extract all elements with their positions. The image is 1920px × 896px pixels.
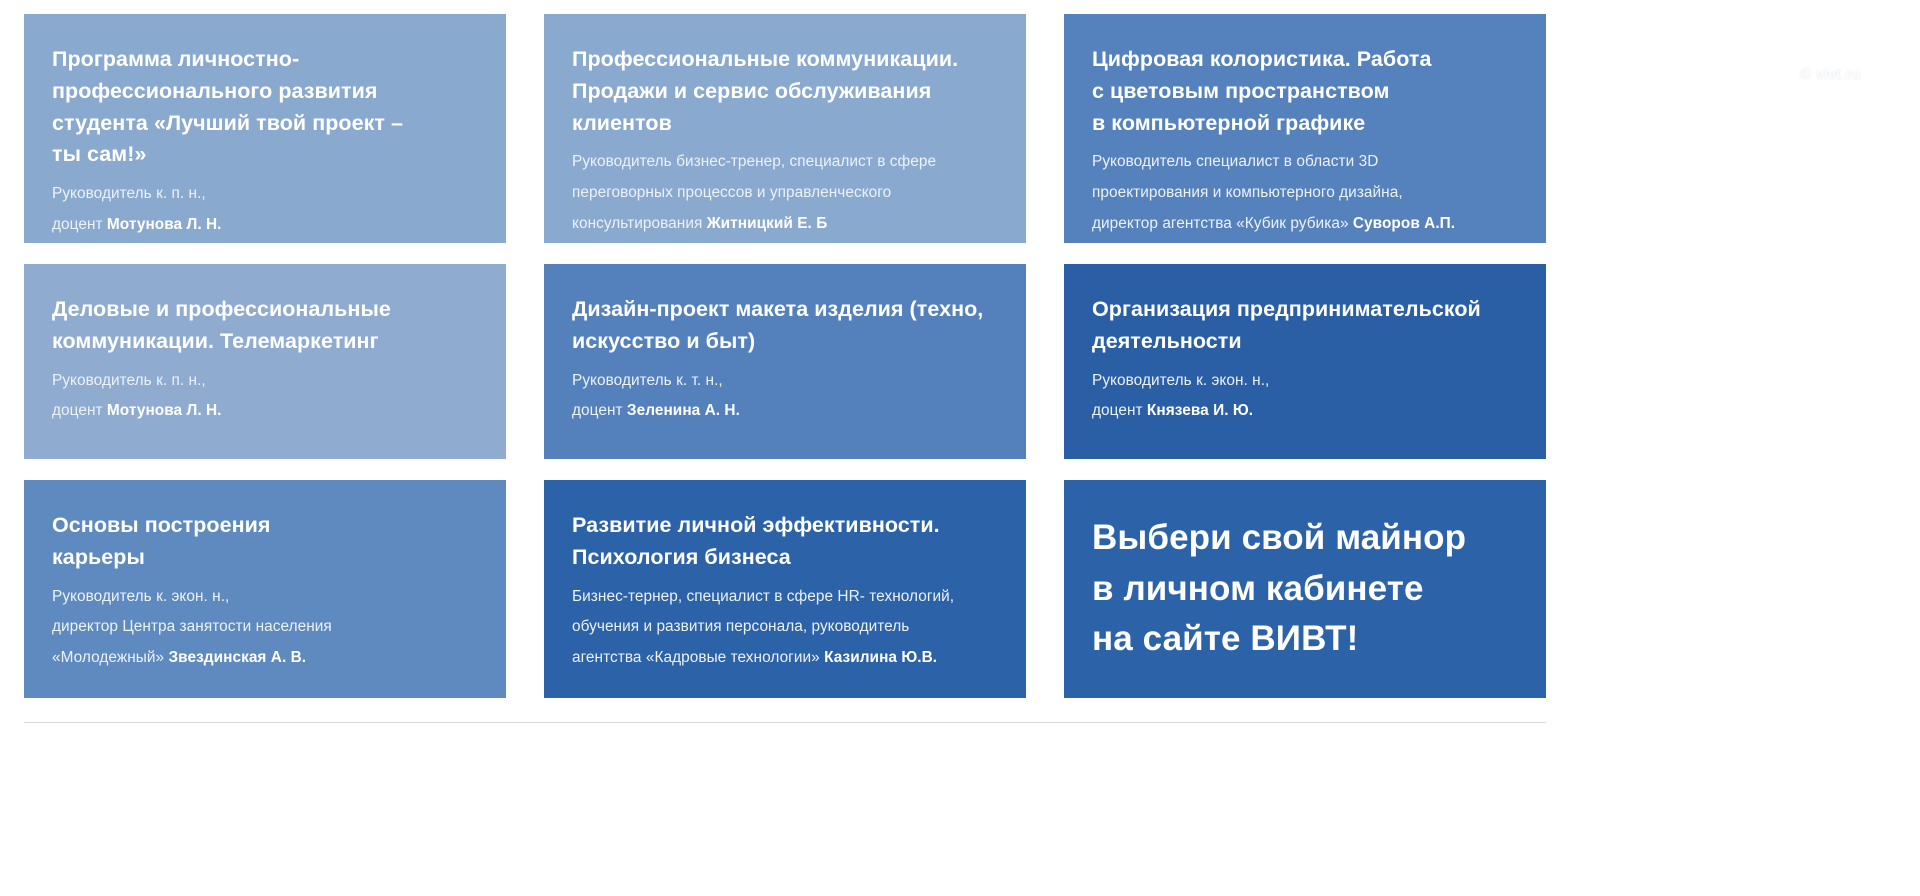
supervisor-line: доцент Мотунова Л. Н. [52, 396, 480, 427]
supervisor-line: доцент Князева И. Ю. [1092, 396, 1520, 427]
program-supervisor: Руководитель специалист в области 3Dпрое… [1092, 147, 1520, 239]
program-card[interactable]: Развитие личной эффективности.Психология… [544, 480, 1026, 698]
supervisor-line: Руководитель к. п. н., [52, 366, 480, 397]
program-card[interactable]: Организация предпринимательскойдеятельно… [1064, 264, 1546, 459]
supervisor-name: Суворов А.П. [1353, 215, 1455, 232]
supervisor-line: Руководитель к. п. н., [52, 179, 480, 210]
supervisor-line: Руководитель к. экон. н., [52, 582, 480, 613]
supervisor-line: обучения и развития персонала, руководит… [572, 612, 1000, 643]
program-supervisor: Руководитель к. п. н.,доцент Мотунова Л.… [52, 179, 480, 241]
supervisor-name: Зеленина А. Н. [627, 402, 740, 419]
program-title: Профессиональные коммуникации.Продажи и … [572, 44, 1000, 139]
supervisor-line: проектирования и компьютерного дизайна, [1092, 178, 1520, 209]
program-supervisor: Руководитель к. п. н.,доцент Мотунова Л.… [52, 366, 480, 428]
program-title: Цифровая колористика. Работас цветовым п… [1092, 44, 1520, 139]
program-card[interactable]: Деловые и профессиональныекоммуникации. … [24, 264, 506, 459]
program-card[interactable]: Профессиональные коммуникации.Продажи и … [544, 14, 1026, 243]
program-supervisor: Руководитель к. экон. н.,директор Центра… [52, 582, 480, 674]
supervisor-line: доцент Зеленина А. Н. [572, 396, 1000, 427]
program-title: Деловые и профессиональныекоммуникации. … [52, 294, 480, 358]
program-supervisor: Руководитель бизнес-тренер, специалист в… [572, 147, 1000, 239]
program-title: Развитие личной эффективности.Психология… [572, 510, 1000, 574]
program-title: Программа личностно-профессионального ра… [52, 44, 480, 171]
minor-programs-grid: Программа личностно-профессионального ра… [24, 14, 1546, 698]
supervisor-line: консультирования Житницкий Е. Б [572, 209, 1000, 240]
supervisor-line: Руководитель к. экон. н., [1092, 366, 1520, 397]
cta-headline: Выбери свой майнор в личном кабинете на … [1092, 513, 1466, 665]
supervisor-name: Князева И. Ю. [1147, 402, 1253, 419]
supervisor-name: Мотунова Л. Н. [107, 402, 222, 419]
program-title: Дизайн-проект макета изделия (техно,иску… [572, 294, 1000, 358]
supervisor-line: агентства «Кадровые технологии» Казилина… [572, 643, 1000, 674]
supervisor-line: Руководитель специалист в области 3D [1092, 147, 1520, 178]
supervisor-name: Житницкий Е. Б [707, 215, 828, 232]
supervisor-line: Руководитель к. т. н., [572, 366, 1000, 397]
supervisor-line: директор агентства «Кубик рубика» Суворо… [1092, 209, 1520, 240]
page-root: © vivt.ru Программа личностно-профессион… [0, 0, 1920, 896]
supervisor-line: Руководитель бизнес-тренер, специалист в… [572, 147, 1000, 178]
supervisor-line: переговорных процессов и управленческого [572, 178, 1000, 209]
program-supervisor: Бизнес-тернер, специалист в сфере HR- те… [572, 582, 1000, 674]
program-title: Организация предпринимательскойдеятельно… [1092, 294, 1520, 358]
program-supervisor: Руководитель к. экон. н.,доцент Князева … [1092, 366, 1520, 428]
supervisor-name: Звездинская А. В. [168, 649, 306, 666]
choose-minor-cta-card[interactable]: Выбери свой майнор в личном кабинете на … [1064, 480, 1546, 698]
supervisor-name: Казилина Ю.В. [824, 649, 937, 666]
program-supervisor: Руководитель к. т. н.,доцент Зеленина А.… [572, 366, 1000, 428]
vivt-logo-icon [1794, 2, 1914, 76]
supervisor-name: Мотунова Л. Н. [107, 216, 222, 233]
watermark: © vivt.ru [1794, 2, 1914, 100]
program-card[interactable]: Дизайн-проект макета изделия (техно,иску… [544, 264, 1026, 459]
supervisor-line: «Молодежный» Звездинская А. В. [52, 643, 480, 674]
program-card[interactable]: Программа личностно-профессионального ра… [24, 14, 506, 243]
supervisor-line: директор Центра занятости населения [52, 612, 480, 643]
bottom-divider [24, 722, 1546, 723]
program-card[interactable]: Основы построениякарьеры Руководитель к.… [24, 480, 506, 698]
program-card[interactable]: Цифровая колористика. Работас цветовым п… [1064, 14, 1546, 243]
watermark-url: © vivt.ru [1800, 66, 1861, 83]
supervisor-line: доцент Мотунова Л. Н. [52, 210, 480, 241]
program-title: Основы построениякарьеры [52, 510, 480, 574]
supervisor-line: Бизнес-тернер, специалист в сфере HR- те… [572, 582, 1000, 613]
